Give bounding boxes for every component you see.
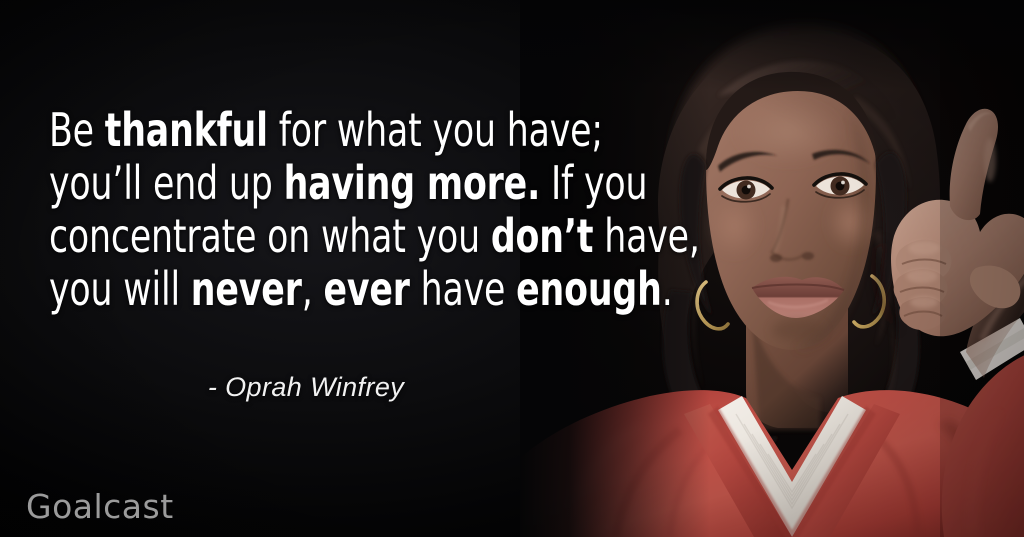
right-eye bbox=[814, 174, 866, 198]
quote-attribution: - Oprah Winfrey bbox=[0, 372, 612, 403]
quote-line-1: Be thankful for what you have; bbox=[49, 104, 563, 157]
quote-segment: concentrate on what you bbox=[49, 209, 491, 263]
quote-line-3: concentrate on what you don’t have, bbox=[49, 210, 563, 263]
quote-segment-bold: ever bbox=[323, 262, 409, 316]
quote-segment-bold: thankful bbox=[105, 103, 268, 157]
quote-segment: have, bbox=[593, 209, 699, 263]
quote-line-4: you will never, ever have enough. bbox=[49, 263, 563, 316]
quote-segment: Be bbox=[49, 103, 105, 157]
quote-segment: you’ll end up bbox=[49, 156, 284, 210]
quote-segment: you will bbox=[49, 262, 191, 316]
goalcast-logo: Goalcast bbox=[26, 487, 174, 526]
quote-segment-bold: having more. bbox=[284, 156, 541, 210]
quote-segment: have bbox=[410, 262, 516, 316]
quote-text: Be thankful for what you have; you’ll en… bbox=[0, 104, 612, 316]
quote-segment-bold: enough bbox=[516, 262, 662, 316]
quote-segment: , bbox=[302, 262, 324, 316]
quote-line-2: you’ll end up having more. If you bbox=[49, 157, 563, 210]
quote-segment: for what you have; bbox=[268, 103, 603, 157]
quote-segment-bold: never bbox=[191, 262, 302, 316]
left-eye bbox=[720, 178, 772, 202]
quote-segment: . bbox=[662, 262, 673, 316]
quote-segment: If you bbox=[540, 156, 647, 210]
quote-card: Be thankful for what you have; you’ll en… bbox=[0, 0, 1024, 537]
quote-segment-bold: don’t bbox=[491, 209, 594, 263]
